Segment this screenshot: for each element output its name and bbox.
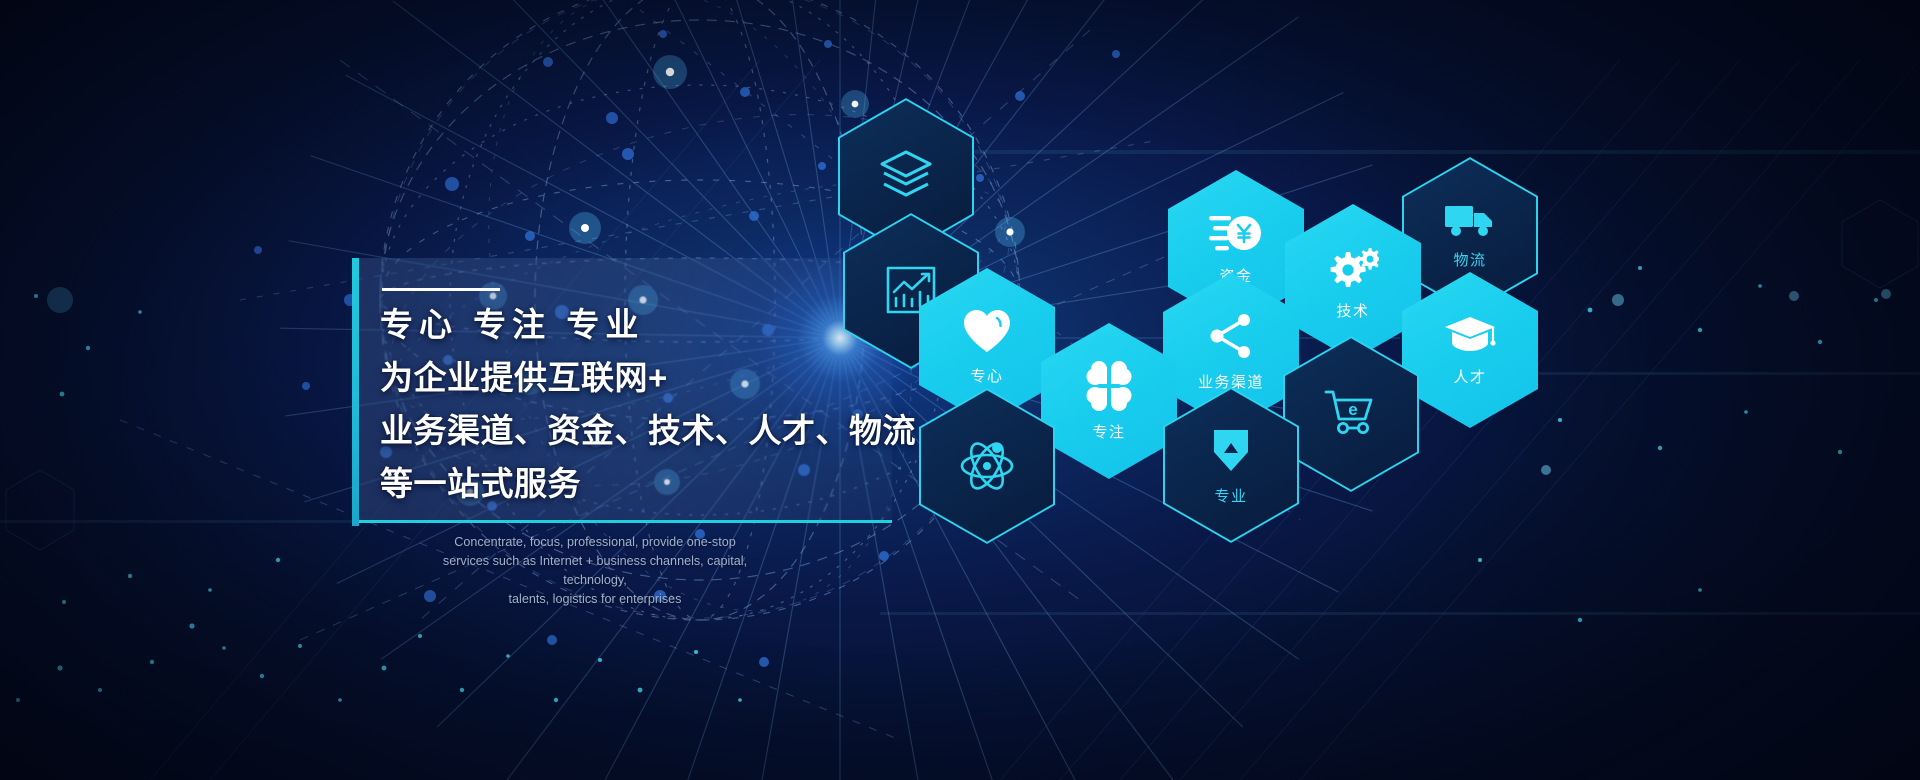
subtitle-group: Concentrate, focus, professional, provid… <box>420 533 770 609</box>
truck-icon <box>1444 201 1496 244</box>
layers-icon <box>878 148 934 205</box>
hex-label-talent: 人才 <box>1453 366 1486 387</box>
hex-label-technology: 技术 <box>1336 300 1369 321</box>
yen-coin-icon <box>1209 211 1263 260</box>
svg-text:e: e <box>1348 400 1357 419</box>
panel-accent-bar <box>352 258 359 526</box>
e-cart-icon: e <box>1323 387 1379 442</box>
subtitle-line-2: services such as Internet + business cha… <box>420 552 770 590</box>
gears-icon <box>1327 244 1379 295</box>
clover-icon <box>1084 361 1134 416</box>
hex-label-logistics: 物流 <box>1453 249 1486 270</box>
share-nodes-icon <box>1206 311 1256 366</box>
headline-line-3: 业务渠道、资金、技术、人才、物流 <box>380 404 940 457</box>
graduation-cap-icon <box>1443 314 1497 361</box>
heart-icon <box>961 307 1013 360</box>
diamond-icon <box>1208 425 1254 480</box>
headline-line-2: 为企业提供互联网+ <box>380 351 940 404</box>
atom-icon <box>958 437 1016 496</box>
subtitle-line-1: Concentrate, focus, professional, provid… <box>420 533 770 552</box>
hex-label-concentration: 专心 <box>970 365 1003 386</box>
headline-rule <box>382 288 500 291</box>
hex-label-professional: 专业 <box>1214 485 1247 506</box>
subtitle-line-3: talents, logistics for enterprises <box>420 590 770 609</box>
headline-line-4: 等一站式服务 <box>380 457 940 510</box>
banner-stage: 专心 专注 专业 为企业提供互联网+ 业务渠道、资金、技术、人才、物流 等一站式… <box>0 0 1920 780</box>
hex-label-focus: 专注 <box>1092 421 1125 442</box>
